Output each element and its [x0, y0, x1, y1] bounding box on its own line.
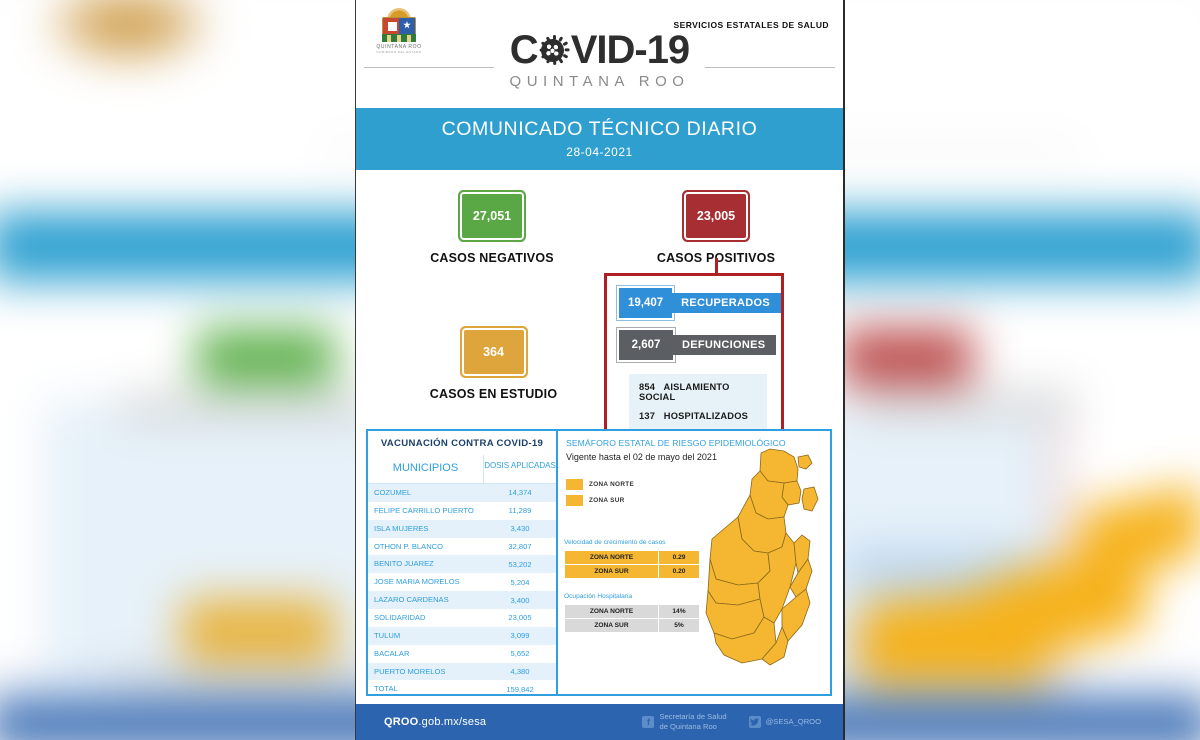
dosis-value: 4,380 — [484, 663, 556, 681]
legend-swatch — [566, 479, 583, 490]
covid-report-poster: QUINTANA ROO GOBIERNO DEL ESTADO SERVICI… — [355, 0, 845, 740]
dosis-value: 5,652 — [484, 645, 556, 663]
zone-value: 14% — [659, 605, 700, 619]
rule-left — [364, 67, 494, 68]
vaccination-table-body: COZUMEL14,374FELIPE CARRILLO PUERTO11,28… — [368, 484, 556, 698]
daily-report-band: COMUNICADO TÉCNICO DIARIO 28-04-2021 — [356, 108, 843, 170]
municipio-name: BENITO JUAREZ — [368, 555, 484, 573]
covid-subtitle: QUINTANA ROO — [356, 73, 843, 90]
vaccination-row: PUERTO MORELOS4,380 — [368, 663, 556, 681]
municipio-name: LAZARO CARDENAS — [368, 591, 484, 609]
coronavirus-icon — [539, 35, 570, 66]
column-header-municipios: MUNICIPIOS — [368, 455, 484, 483]
facebook-line-2: de Quintana Roo — [659, 722, 726, 732]
covid-title-c: C — [510, 30, 538, 70]
defunciones-value: 2,607 — [619, 330, 673, 360]
vaccination-row: BENITO JUAREZ53,202 — [368, 555, 556, 573]
facebook-link[interactable]: f Secretaría de Salud de Quintana Roo — [642, 712, 726, 732]
stat-casos-en-estudio: 364 CASOS EN ESTUDIO — [406, 330, 581, 401]
dosis-value: 53,202 — [484, 555, 556, 573]
en-estudio-label: CASOS EN ESTUDIO — [406, 387, 581, 401]
dosis-value: 14,374 — [484, 484, 556, 502]
stat-aislamiento-social: 854 AISLAMIENTO SOCIAL — [639, 382, 757, 402]
semaforo-section: SEMÁFORO ESTATAL DE RIESGO EPIDEMIOLÓGIC… — [558, 431, 830, 694]
municipio-name: FELIPE CARRILLO PUERTO — [368, 502, 484, 520]
legend-label: ZONA NORTE — [589, 481, 634, 488]
legend-swatch — [566, 495, 583, 506]
facebook-label: Secretaría de Salud de Quintana Roo — [659, 712, 726, 732]
stat-recuperados: 19,407 RECUPERADOS — [619, 288, 781, 318]
rule-right — [705, 67, 835, 68]
municipio-name: OTHON P. BLANCO — [368, 538, 484, 556]
zone-value: 0.29 — [659, 551, 700, 565]
band-date: 28-04-2021 — [356, 145, 843, 159]
twitter-handle: @SESA_QROO — [766, 717, 821, 727]
zone-row: ZONA SUR5% — [565, 619, 700, 633]
quintana-roo-map — [698, 447, 826, 683]
vaccination-row: JOSE MARIA MORELOS5,204 — [368, 573, 556, 591]
recuperados-label: RECUPERADOS — [672, 293, 781, 313]
social-links: f Secretaría de Salud de Quintana Roo @S… — [642, 712, 843, 732]
stat-hospitalizados: 137 HOSPITALIZADOS — [639, 411, 757, 421]
positivos-value: 23,005 — [686, 194, 746, 238]
dosis-value: 5,204 — [484, 573, 556, 591]
velocidad-caption: Velocidad de crecimiento de casos — [564, 539, 700, 547]
vaccination-row: LAZARO CARDENAS3,400 — [368, 591, 556, 609]
hospitalizados-label: HOSPITALIZADOS — [664, 411, 748, 421]
positivos-breakdown-box: 19,407 RECUPERADOS 2,607 DEFUNCIONES 854… — [604, 273, 784, 441]
recuperados-value: 19,407 — [619, 288, 672, 318]
zone-row: ZONA SUR0.20 — [565, 565, 700, 579]
zone-name: ZONA NORTE — [565, 551, 659, 565]
dosis-value: 3,099 — [484, 627, 556, 645]
vaccination-title: VACUNACIÓN CONTRA COVID-19 — [368, 431, 556, 455]
en-estudio-value: 364 — [464, 330, 524, 374]
legend-label: ZONA SUR — [589, 497, 625, 504]
zone-row: ZONA NORTE0.29 — [565, 551, 700, 565]
vaccination-row: BACALAR5,652 — [368, 645, 556, 663]
dosis-value: 159,842 — [484, 680, 556, 698]
stat-casos-negativos: 27,051 CASOS NEGATIVOS — [412, 194, 572, 265]
facebook-icon: f — [642, 716, 654, 728]
active-cases-box: 854 AISLAMIENTO SOCIAL 137 HOSPITALIZADO… — [629, 374, 767, 429]
municipio-name: PUERTO MORELOS — [368, 663, 484, 681]
zone-name: ZONA SUR — [565, 565, 659, 579]
website-url: QROO.gob.mx/sesa — [384, 716, 486, 728]
municipio-name: JOSE MARIA MORELOS — [368, 573, 484, 591]
negativos-value: 27,051 — [462, 194, 522, 238]
zone-value: 5% — [659, 619, 700, 633]
vaccination-row: FELIPE CARRILLO PUERTO11,289 — [368, 502, 556, 520]
defunciones-label: DEFUNCIONES — [673, 335, 776, 355]
vaccination-row: ISLA MUJERES3,430 — [368, 520, 556, 538]
statistics-area: 27,051 CASOS NEGATIVOS 23,005 CASOS POSI… — [356, 170, 843, 460]
vaccination-row: TULUM3,099 — [368, 627, 556, 645]
stat-defunciones: 2,607 DEFUNCIONES — [619, 330, 781, 360]
column-header-dosis: DOSIS APLICADAS — [484, 455, 556, 483]
legend-item: ZONA SUR — [566, 495, 634, 506]
vaccination-section: VACUNACIÓN CONTRA COVID-19 MUNICIPIOS DO… — [368, 431, 558, 694]
twitter-link[interactable]: @SESA_QROO — [749, 716, 821, 728]
stat-casos-positivos: 23,005 CASOS POSITIVOS — [636, 194, 796, 265]
dosis-value: 23,005 — [484, 609, 556, 627]
vaccination-row: TOTAL159,842 — [368, 680, 556, 698]
municipio-name: TULUM — [368, 627, 484, 645]
band-title: COMUNICADO TÉCNICO DIARIO — [356, 118, 843, 141]
covid-title-vid19: VID-19 — [571, 30, 690, 70]
municipio-name: ISLA MUJERES — [368, 520, 484, 538]
vaccination-row: COZUMEL14,374 — [368, 484, 556, 502]
dosis-value: 32,807 — [484, 538, 556, 556]
covid-logo-block: C — [356, 30, 843, 90]
covid-19-title: C — [510, 30, 689, 70]
zone-row: ZONA NORTE14% — [565, 605, 700, 619]
semaforo-legend: ZONA NORTEZONA SUR — [566, 479, 634, 511]
hospitalizados-value: 137 — [639, 411, 661, 421]
aislamiento-value: 854 — [639, 382, 661, 392]
website-rest: .gob.mx/sesa — [418, 716, 486, 728]
bottom-panel: VACUNACIÓN CONTRA COVID-19 MUNICIPIOS DO… — [366, 429, 832, 696]
municipio-name: SOLIDARIDAD — [368, 609, 484, 627]
dosis-value: 3,400 — [484, 591, 556, 609]
velocidad-crecimiento-table: Velocidad de crecimiento de casos ZONA N… — [564, 539, 700, 579]
zone-value: 0.20 — [659, 565, 700, 579]
zone-name: ZONA NORTE — [565, 605, 659, 619]
vaccination-row: OTHON P. BLANCO32,807 — [368, 538, 556, 556]
facebook-line-1: Secretaría de Salud — [659, 712, 726, 722]
vaccination-table-header: MUNICIPIOS DOSIS APLICADAS — [368, 455, 556, 484]
poster-header: QUINTANA ROO GOBIERNO DEL ESTADO SERVICI… — [356, 0, 843, 108]
zone-name: ZONA SUR — [565, 619, 659, 633]
negativos-label: CASOS NEGATIVOS — [412, 251, 572, 265]
poster-footer: QROO.gob.mx/sesa f Secretaría de Salud d… — [356, 704, 843, 740]
website-bold: QROO — [384, 716, 418, 728]
positivos-connector-line — [715, 258, 718, 274]
health-services-label: SERVICIOS ESTATALES DE SALUD — [673, 20, 829, 30]
municipio-name: TOTAL — [368, 680, 484, 698]
municipio-name: COZUMEL — [368, 484, 484, 502]
ocupacion-hospitalaria-table: Ocupación Hospitalaria ZONA NORTE14%ZONA… — [564, 593, 700, 633]
legend-item: ZONA NORTE — [566, 479, 634, 490]
dosis-value: 11,289 — [484, 502, 556, 520]
ocupacion-caption: Ocupación Hospitalaria — [564, 593, 700, 601]
twitter-icon — [749, 716, 761, 728]
vaccination-row: SOLIDARIDAD23,005 — [368, 609, 556, 627]
screenshot-root: QUINTANA ROO GOBIERNO DEL ESTADO SERVICI… — [0, 0, 1200, 740]
municipio-name: BACALAR — [368, 645, 484, 663]
dosis-value: 3,430 — [484, 520, 556, 538]
